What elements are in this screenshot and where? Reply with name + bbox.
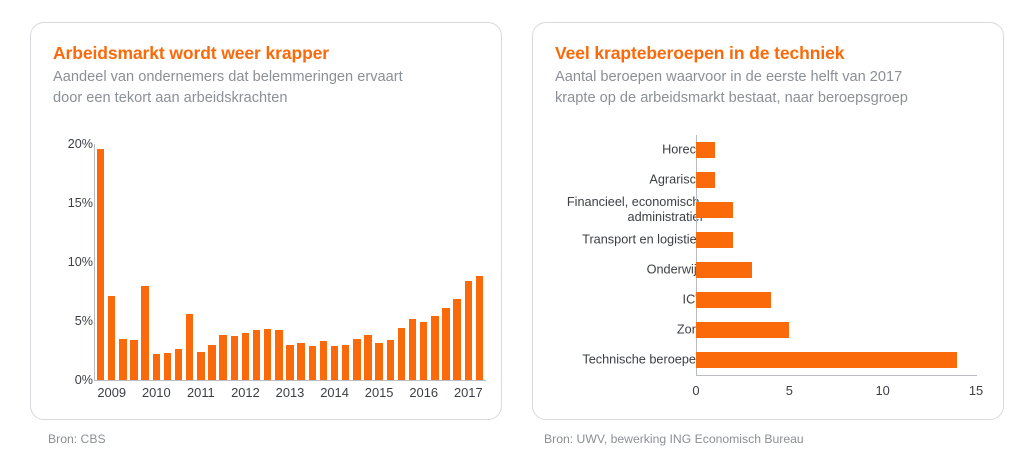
column-bar <box>219 335 226 380</box>
x-tick-label: 2016 <box>409 385 438 400</box>
column-bar <box>420 322 427 380</box>
category-label: Zorg <box>523 323 703 338</box>
category-label: Horeca <box>523 143 703 158</box>
value-tick-label: 10 <box>875 383 889 398</box>
column-bar <box>442 308 449 380</box>
y-tick-label: 15% <box>53 196 93 210</box>
category-label-line: Onderwijs <box>523 263 703 278</box>
y-tick-label: 5% <box>53 314 93 328</box>
x-tick-label: 2009 <box>97 385 126 400</box>
column-bar <box>275 330 282 380</box>
category-label-line: Zorg <box>523 323 703 338</box>
category-label-line: Agrarisch <box>523 173 703 188</box>
value-tick-label: 5 <box>786 383 793 398</box>
column-bar <box>476 276 483 380</box>
column-bar <box>286 345 293 380</box>
column-bar <box>242 333 249 380</box>
x-tick-label: 2014 <box>320 385 349 400</box>
column-bar <box>231 336 238 380</box>
column-bar <box>342 345 349 380</box>
column-bar <box>253 330 260 380</box>
x-tick-label: 2011 <box>187 385 215 400</box>
column-bar <box>153 354 160 380</box>
horizontal-bar <box>696 142 715 158</box>
column-bar <box>375 343 382 380</box>
category-label: Transport en logistiek <box>523 233 703 248</box>
column-bar <box>331 346 338 380</box>
column-chart-arbeidsmarkt: 0%5%10%15%20% 20092010201120122013201420… <box>31 23 503 421</box>
column-bar <box>130 340 137 380</box>
x-tick-label: 2010 <box>142 385 171 400</box>
horizontal-bar <box>696 172 715 188</box>
column-chart-plot-area <box>95 144 485 380</box>
y-axis-line <box>94 144 95 380</box>
x-tick-label: 2013 <box>276 385 305 400</box>
category-label: Onderwijs <box>523 263 703 278</box>
x-axis-line <box>94 380 486 381</box>
column-bar <box>108 296 115 380</box>
column-bar <box>119 339 126 380</box>
column-bar <box>197 352 204 380</box>
column-bar <box>309 346 316 380</box>
column-bar <box>175 349 182 380</box>
y-tick-label: 0% <box>53 373 93 387</box>
column-bar <box>264 329 271 380</box>
column-bar <box>297 343 304 380</box>
bar-chart-plot-area <box>696 135 976 375</box>
horizontal-bar <box>696 262 752 278</box>
column-bar <box>164 353 171 380</box>
column-bar <box>387 340 394 380</box>
category-label: Technische beroepen <box>523 353 703 368</box>
chart-card-arbeidsmarkt: Arbeidsmarkt wordt weer krapper Aandeel … <box>30 22 502 420</box>
horizontal-bar <box>696 232 733 248</box>
column-bar <box>186 314 193 380</box>
column-bar <box>353 339 360 380</box>
horizontal-bar <box>696 352 957 368</box>
column-bar <box>141 286 148 380</box>
category-label: ICT <box>523 293 703 308</box>
category-label-line: administratief <box>523 210 703 225</box>
column-bar <box>320 341 327 380</box>
source-note-right: Bron: UWV, bewerking ING Economisch Bure… <box>544 432 804 446</box>
column-bar <box>97 149 104 380</box>
column-bar <box>208 345 215 380</box>
column-bar <box>453 299 460 380</box>
x-tick-label: 2015 <box>365 385 394 400</box>
column-bar <box>398 328 405 380</box>
horizontal-bar <box>696 202 733 218</box>
category-label-line: Technische beroepen <box>523 353 703 368</box>
value-tick-label: 15 <box>969 383 983 398</box>
bar-chart-krapteberoepen: HorecaAgrarischFinancieel, economisch,ad… <box>533 23 1005 421</box>
column-bar <box>465 281 472 380</box>
chart-card-krapteberoepen: Veel krapteberoepen in de techniek Aanta… <box>532 22 1004 420</box>
category-label: Financieel, economisch,administratief <box>523 195 703 225</box>
y-axis-tick-labels: 0%5%10%15%20% <box>49 23 93 421</box>
source-note-left: Bron: CBS <box>48 432 106 446</box>
category-label-line: Horeca <box>523 143 703 158</box>
value-tick-label: 0 <box>692 383 699 398</box>
x-tick-label: 2017 <box>454 385 483 400</box>
y-tick-label: 10% <box>53 255 93 269</box>
category-label-line: ICT <box>523 293 703 308</box>
horizontal-bar <box>696 292 771 308</box>
y-tick-label: 20% <box>53 137 93 151</box>
category-label-line: Financieel, economisch, <box>523 195 703 210</box>
column-bar <box>409 319 416 380</box>
category-axis-line <box>696 375 977 376</box>
column-bar <box>431 316 438 380</box>
x-tick-label: 2012 <box>231 385 260 400</box>
category-axis-labels: HorecaAgrarischFinancieel, economisch,ad… <box>521 23 703 421</box>
column-bar <box>364 335 371 380</box>
category-label: Agrarisch <box>523 173 703 188</box>
horizontal-bar <box>696 322 789 338</box>
infographic-page: Arbeidsmarkt wordt weer krapper Aandeel … <box>0 0 1024 466</box>
category-label-line: Transport en logistiek <box>523 233 703 248</box>
